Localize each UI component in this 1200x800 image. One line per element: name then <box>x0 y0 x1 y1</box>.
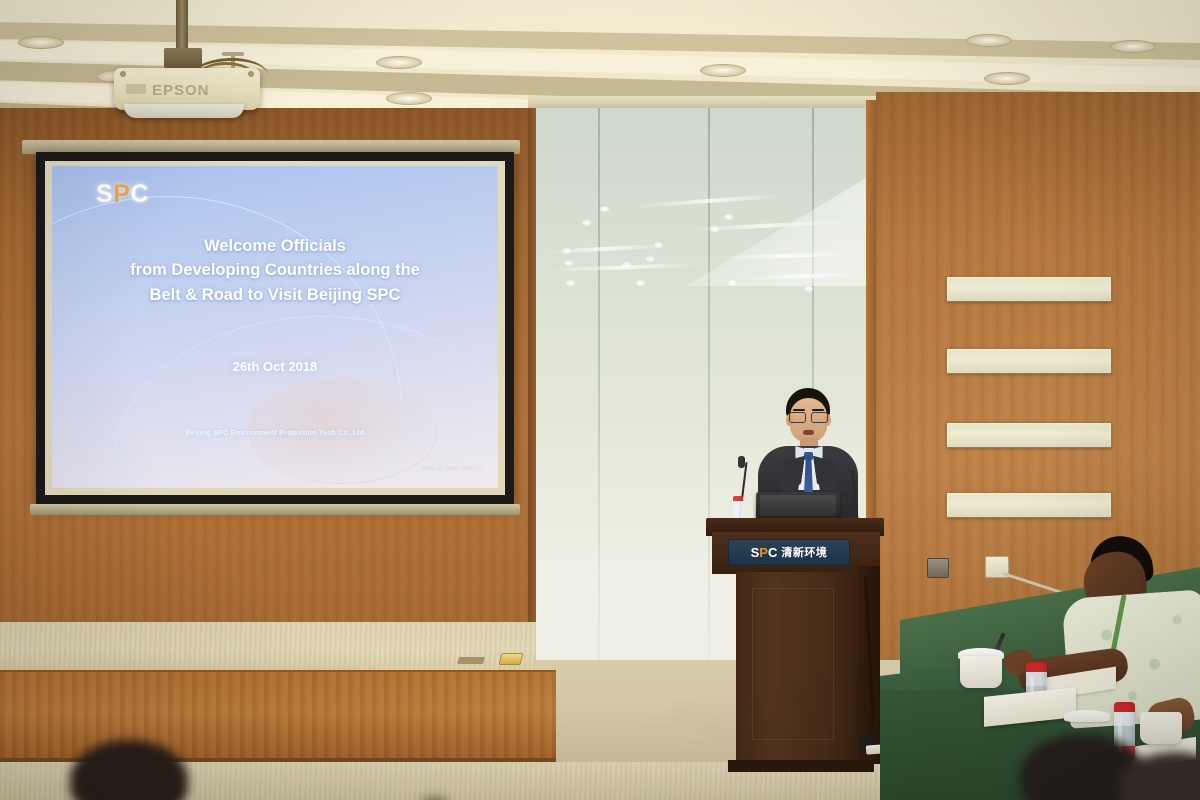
slide-date: 26th Oct 2018 <box>52 359 498 374</box>
presenter-eyebrow <box>793 409 805 411</box>
podium-logo-letter-s: S <box>751 545 760 560</box>
reflected-downlight <box>646 256 655 262</box>
reflected-downlight <box>654 242 663 248</box>
conference-room-scene: EPSON SPC Welcome Officials from Develop… <box>0 0 1200 800</box>
projector-screw <box>248 71 254 77</box>
projector-screw <box>120 71 126 77</box>
podium-chinese-name: 清新环境 <box>781 544 827 560</box>
ceiling-hook <box>222 52 244 56</box>
slide-title-line-3: Belt & Road to Visit Beijing SPC <box>52 283 498 307</box>
teacup-lid <box>1064 710 1110 722</box>
ceiling-light <box>18 36 64 49</box>
projector-mount-rod <box>176 0 188 55</box>
stage-floor-outlet[interactable] <box>499 653 524 665</box>
presentation-slide: SPC Welcome Officials from Developing Co… <box>52 166 498 488</box>
ceiling-light <box>966 34 1012 47</box>
projector-badge <box>126 84 146 94</box>
podium-logo-letter-p: P <box>759 545 768 560</box>
teacup <box>960 656 1002 688</box>
ceiling-light <box>1110 40 1156 53</box>
wall-network-jack[interactable] <box>927 558 949 578</box>
logo-letter-s: S <box>96 180 113 208</box>
slide-title-line-1: Welcome Officials <box>52 234 498 258</box>
wall-glass-panel <box>946 348 1112 374</box>
podium-base <box>728 760 874 772</box>
reflected-downlight <box>562 248 571 254</box>
stage-riser-front <box>0 670 556 762</box>
ceiling-light <box>700 64 746 77</box>
reflected-downlight <box>564 260 573 266</box>
podium-body <box>736 572 864 768</box>
wall-glass-panel <box>946 492 1112 518</box>
projector-lens-housing <box>124 104 244 118</box>
screen-case-label <box>42 143 43 149</box>
teacup <box>1140 712 1182 744</box>
podium-logo-letter-c: C <box>768 545 777 560</box>
stage-platform-top <box>0 622 536 674</box>
stage-floor-plate <box>457 657 485 664</box>
projection-screen-bottom-bar <box>30 504 520 515</box>
slide-spc-logo: SPC <box>96 180 149 209</box>
wall-glass-panel <box>946 276 1112 302</box>
reflected-downlight <box>566 280 575 286</box>
podium-spc-logo: SPC <box>751 545 778 560</box>
slide-company-name: Beijing SPC Environment Protection Tech … <box>52 430 498 437</box>
ceiling-light <box>984 72 1030 85</box>
projector-mount-plate <box>164 48 202 68</box>
logo-letter-c: C <box>130 180 149 208</box>
laptop[interactable] <box>756 492 841 520</box>
glasses-icon <box>789 412 828 421</box>
podium-brand-sign: SPC 清新环境 <box>728 539 850 565</box>
attendee-ear <box>1132 576 1143 592</box>
presenter-eyebrow <box>812 409 824 411</box>
reflected-downlight <box>724 214 733 220</box>
wall-glass-panel <box>946 422 1112 448</box>
ceiling-light <box>386 92 432 105</box>
ceiling-reflection <box>636 194 786 208</box>
slide-title-line-2: from Developing Countries along the <box>52 258 498 282</box>
reflected-downlight <box>600 206 609 212</box>
reflected-downlight <box>622 262 631 268</box>
logo-letter-p: P <box>113 180 130 208</box>
reflected-downlight <box>804 286 813 292</box>
reflected-downlight <box>636 280 645 286</box>
microphone-icon <box>738 456 745 468</box>
presenter-mouth <box>803 430 814 435</box>
ceiling-light <box>376 56 422 69</box>
projector-brand-label: EPSON <box>152 82 210 99</box>
reflected-downlight <box>710 226 719 232</box>
reflected-downlight <box>582 220 591 226</box>
slide-title: Welcome Officials from Developing Countr… <box>52 234 498 307</box>
slide-website-url: www.qingxpc.com.cn <box>422 466 482 472</box>
